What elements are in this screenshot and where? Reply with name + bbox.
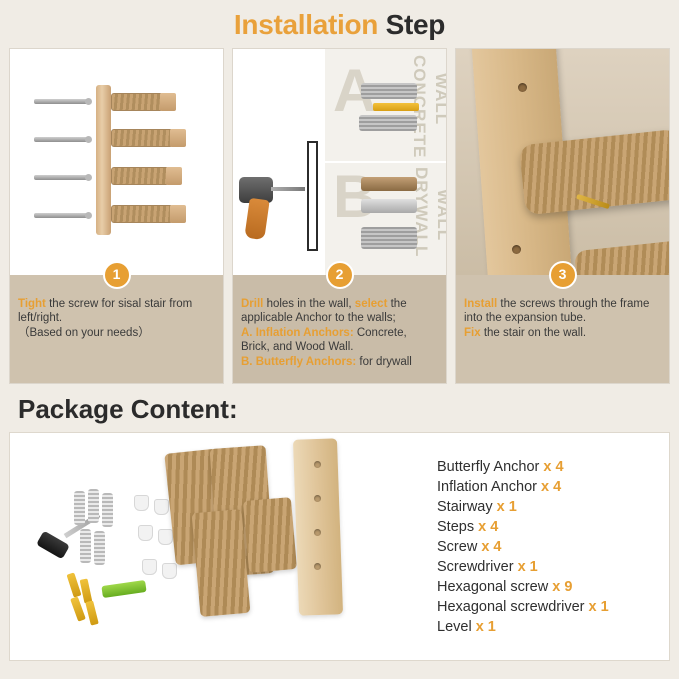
butterfly-anchor-icon	[361, 227, 417, 249]
step-3-caption: 3 Install the screws through the frame i…	[456, 275, 669, 383]
label-b: B	[333, 167, 376, 227]
sisal-step-part	[192, 509, 251, 617]
package-item: Level x 1	[437, 617, 669, 637]
step-1-caption: 1 Tight the screw for sisal stair from l…	[10, 275, 223, 383]
mounting-hole	[518, 83, 527, 92]
package-item: Steps x 4	[437, 517, 669, 537]
package-item-qty: x 4	[543, 459, 563, 475]
spring-icon	[74, 491, 85, 525]
step-2-caption: 2 Drill holes in the wall, select the ap…	[233, 275, 446, 383]
anchor-diagram: A CONCRETE WALL B DRYWALL WALL	[233, 49, 446, 275]
butterfly-anchor-part	[162, 563, 177, 579]
butterfly-anchor-icon	[361, 177, 417, 191]
stair-step-icon	[111, 129, 173, 147]
plank-hole	[314, 529, 321, 536]
package-item-label: Hexagonal screw	[437, 579, 548, 595]
step-2-badge: 2	[326, 261, 354, 289]
plank-hole	[314, 563, 321, 570]
step-card-1: 1 Tight the screw for sisal stair from l…	[9, 48, 224, 384]
inflation-anchor-icon	[359, 115, 417, 131]
page-title: Installation Step	[0, 0, 679, 41]
screw-icon	[34, 175, 88, 180]
package-item-label: Steps	[437, 519, 474, 535]
package-item: Butterfly Anchor x 4	[437, 457, 669, 477]
page-title-rest: Step	[378, 9, 445, 40]
package-item-qty: x 1	[497, 499, 517, 515]
page-title-highlight: Installation	[234, 9, 378, 40]
stair-step-tip-icon	[160, 93, 176, 111]
package-item-qty: x 1	[476, 619, 496, 635]
label-wall-bottom: WALL	[433, 189, 446, 241]
spring-icon	[102, 493, 113, 527]
step-1-keyword: Tight	[18, 298, 46, 310]
step-3-badge: 3	[549, 261, 577, 289]
butterfly-anchor-icon	[361, 199, 417, 213]
step-card-3: 3 Install the screws through the frame i…	[455, 48, 670, 384]
package-item-list: Butterfly Anchor x 4 Inflation Anchor x …	[425, 433, 669, 660]
package-content-panel: Butterfly Anchor x 4 Inflation Anchor x …	[9, 432, 670, 661]
step-2-label-a: A. Inflation Anchors:	[241, 327, 354, 339]
package-item-qty: x 4	[541, 479, 561, 495]
inflation-anchor-part	[66, 572, 81, 597]
steps-row: 1 Tight the screw for sisal stair from l…	[9, 48, 670, 384]
butterfly-anchor-part	[138, 525, 153, 541]
step-3-illustration	[456, 49, 669, 275]
plank-hole	[314, 495, 321, 502]
package-item-label: Hexagonal screwdriver	[437, 599, 584, 615]
drill-bit-icon	[271, 187, 305, 191]
step-3-keyword-install: Install	[464, 298, 497, 310]
package-item-label: Stairway	[437, 499, 493, 515]
package-item: Hexagonal screw x 9	[437, 577, 669, 597]
step-3-keyword-fix: Fix	[464, 327, 481, 339]
butterfly-anchor-part	[154, 499, 169, 515]
package-item: Screw x 4	[437, 537, 669, 557]
spring-icon	[94, 531, 105, 565]
package-item-qty: x 1	[589, 599, 609, 615]
sisal-step-part	[243, 497, 297, 573]
package-item-qty: x 1	[518, 559, 538, 575]
anchor-screw-icon	[373, 103, 419, 111]
step-2-keyword-drill: Drill	[241, 298, 263, 310]
step-2-text-1: holes in the wall,	[263, 298, 354, 310]
step-2-label-b: B. Butterfly Anchors:	[241, 356, 356, 368]
label-wall-top: WALL	[431, 73, 446, 125]
stair-step-icon	[111, 167, 169, 185]
wall-section-icon	[307, 141, 318, 251]
package-item-label: Butterfly Anchor	[437, 459, 539, 475]
package-item-label: Screw	[437, 539, 477, 555]
package-item-label: Inflation Anchor	[437, 479, 537, 495]
butterfly-anchor-part	[134, 495, 149, 511]
step-1-note: （Based on your needs）	[18, 327, 150, 339]
stair-frame-icon	[96, 85, 111, 235]
step-2-illustration: A CONCRETE WALL B DRYWALL WALL	[233, 49, 446, 275]
step-1-illustration	[10, 49, 223, 275]
stair-step-tip-icon	[166, 167, 182, 185]
mounting-hole	[512, 245, 521, 254]
package-parts-photo	[10, 433, 425, 660]
package-item-qty: x 9	[552, 579, 572, 595]
stair-step-icon	[111, 205, 173, 223]
package-item: Stairway x 1	[437, 497, 669, 517]
package-item: Inflation Anchor x 4	[437, 477, 669, 497]
spring-icon	[80, 529, 91, 563]
package-item-qty: x 4	[478, 519, 498, 535]
package-item-label: Screwdriver	[437, 559, 514, 575]
butterfly-anchor-part	[142, 559, 157, 575]
stair-step-icon	[111, 93, 163, 111]
step-2-keyword-select: select	[355, 298, 388, 310]
package-item: Screwdriver x 1	[437, 557, 669, 577]
butterfly-anchor-part	[158, 529, 173, 545]
stair-step-tip-icon	[170, 205, 186, 223]
step-1-badge: 1	[103, 261, 131, 289]
screw-icon	[34, 137, 88, 142]
plank-hole	[314, 461, 321, 468]
package-item: Hexagonal screwdriver x 1	[437, 597, 669, 617]
package-item-label: Level	[437, 619, 472, 635]
spring-icon	[88, 489, 99, 523]
level-part	[101, 580, 146, 598]
inflation-anchor-part	[85, 600, 99, 625]
step-3-text-2: the stair on the wall.	[481, 327, 586, 339]
instruction-sheet: Installation Step 1 Tight	[0, 0, 679, 679]
inflation-anchor-icon	[361, 83, 417, 99]
step-card-2: A CONCRETE WALL B DRYWALL WALL	[232, 48, 447, 384]
drill-handle-icon	[244, 198, 269, 240]
stair-step-tip-icon	[170, 129, 186, 147]
step-2-text-4: for drywall	[356, 356, 412, 368]
screw-icon	[34, 213, 88, 218]
package-item-qty: x 4	[481, 539, 501, 555]
screw-icon	[34, 99, 88, 104]
package-content-heading: Package Content:	[18, 394, 238, 425]
